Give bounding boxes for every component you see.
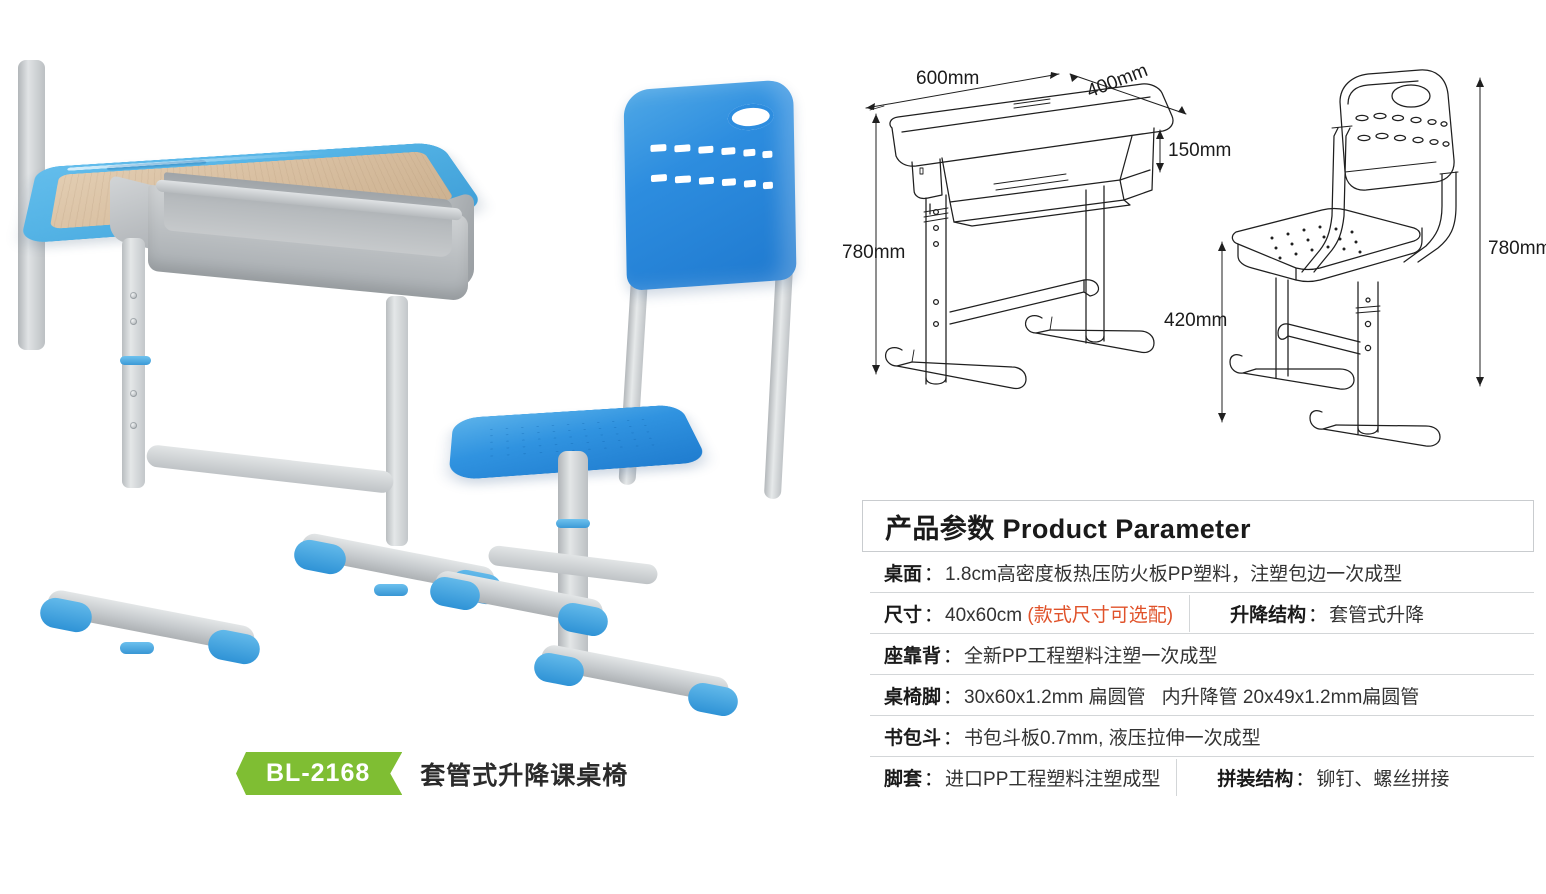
adjust-screw-icon bbox=[130, 422, 137, 429]
adjust-screw-icon bbox=[130, 292, 137, 299]
spec-table: 产品参数 Product Parameter 桌面 ： 1.8cm高密度板热压防… bbox=[862, 500, 1534, 798]
desk-cross-rail bbox=[146, 444, 395, 494]
spec-value: 进口PP工程塑料注塑成型 bbox=[945, 764, 1160, 791]
foot-cap bbox=[686, 680, 741, 718]
spec-value: 套管式升降 bbox=[1329, 600, 1424, 627]
spec-key: 座靠背 bbox=[884, 641, 941, 668]
spec-separator: ： bbox=[941, 641, 964, 668]
spec-row-footcap: 脚套 ： 进口PP工程塑料注塑成型 拼装结构 ： 铆钉、螺丝拼接 bbox=[870, 757, 1534, 798]
desk-leg-adjust-ring bbox=[120, 356, 151, 365]
spec-key: 桌面 bbox=[884, 559, 922, 586]
adjust-screw-icon bbox=[130, 390, 137, 397]
spec-row-tabletop: 桌面 ： 1.8cm高密度板热压防火板PP塑料，注塑包边一次成型 bbox=[870, 552, 1534, 593]
spec-cell: 桌椅脚 ： 30x60x1.2mm 扁圆管内升降管 20x49x1.2mm扁圆管 bbox=[870, 677, 1419, 714]
spec-cell: 升降结构 ： 套管式升降 bbox=[1189, 595, 1424, 632]
spec-value-highlight: (款式尺寸可选配) bbox=[1027, 605, 1173, 626]
spec-key: 尺寸 bbox=[884, 600, 922, 627]
spec-value: 全新PP工程塑料注塑一次成型 bbox=[964, 641, 1217, 668]
foot-ring bbox=[120, 642, 154, 654]
spec-cell: 座靠背 ： 全新PP工程塑料注塑一次成型 bbox=[870, 636, 1217, 673]
chair-line-drawing: 780mm 420mm bbox=[1180, 56, 1540, 466]
spec-value-secondary: 内升降管 20x49x1.2mm扁圆管 bbox=[1162, 687, 1420, 708]
spec-row-legs: 桌椅脚 ： 30x60x1.2mm 扁圆管内升降管 20x49x1.2mm扁圆管 bbox=[870, 675, 1534, 716]
spec-key: 书包斗 bbox=[884, 723, 941, 750]
spec-key: 拼装结构 bbox=[1217, 764, 1293, 791]
chair-backrest bbox=[623, 79, 796, 291]
spec-value: 书包斗板0.7mm, 液压拉伸一次成型 bbox=[964, 723, 1261, 750]
product-photo: BL-2168 套管式升降课桌椅 bbox=[0, 0, 840, 894]
spec-table-header: 产品参数 Product Parameter bbox=[862, 500, 1534, 552]
foot-cap bbox=[206, 627, 263, 666]
spec-row-seatback: 座靠背 ： 全新PP工程塑料注塑一次成型 bbox=[870, 634, 1534, 675]
spec-cell: 尺寸 ： 40x60cm (款式尺寸可选配) bbox=[870, 595, 1173, 632]
spec-separator: ： bbox=[941, 682, 964, 709]
backrest-handle-hole bbox=[728, 102, 774, 131]
spec-key: 桌椅脚 bbox=[884, 682, 941, 709]
spec-key: 脚套 bbox=[884, 764, 922, 791]
spec-row-bookbox: 书包斗 ： 书包斗板0.7mm, 液压拉伸一次成型 bbox=[870, 716, 1534, 757]
adjust-screw-icon bbox=[130, 318, 137, 325]
product-sheet: BL-2168 套管式升降课桌椅 bbox=[0, 0, 1546, 894]
product-badge-row: BL-2168 套管式升降课桌椅 bbox=[236, 752, 628, 795]
desk-book-box bbox=[148, 178, 468, 298]
dim-label-desk-width: 600mm bbox=[916, 68, 979, 90]
spec-header-title: 产品参数 Product Parameter bbox=[885, 507, 1251, 546]
dim-label-chair-height: 780mm bbox=[1488, 238, 1546, 260]
dim-label-desk-height: 780mm bbox=[842, 242, 905, 264]
spec-separator: ： bbox=[1306, 600, 1329, 627]
chair-adjust-ring bbox=[556, 519, 590, 528]
spec-cell: 桌面 ： 1.8cm高密度板热压防火板PP塑料，注塑包边一次成型 bbox=[870, 554, 1402, 591]
technical-drawings: 600mm 400mm 150mm 780mm bbox=[840, 62, 1546, 482]
right-panel: 600mm 400mm 150mm 780mm bbox=[840, 0, 1546, 894]
chair-back-tube bbox=[764, 263, 793, 500]
dim-label-seat-height: 420mm bbox=[1164, 310, 1227, 332]
chair-photo bbox=[430, 85, 830, 745]
spec-separator: ： bbox=[922, 764, 945, 791]
spec-value: 铆钉、螺丝拼接 bbox=[1316, 764, 1449, 791]
spec-cell: 书包斗 ： 书包斗板0.7mm, 液压拉伸一次成型 bbox=[870, 718, 1261, 755]
desk-leg-rear bbox=[386, 296, 408, 546]
spec-separator: ： bbox=[922, 559, 945, 586]
model-badge: BL-2168 bbox=[236, 752, 402, 795]
spec-cell: 拼装结构 ： 铆钉、螺丝拼接 bbox=[1176, 759, 1449, 796]
spec-cell: 脚套 ： 进口PP工程塑料注塑成型 bbox=[870, 759, 1160, 796]
product-title: 套管式升降课桌椅 bbox=[420, 756, 628, 792]
spec-separator: ： bbox=[1293, 764, 1316, 791]
spec-separator: ： bbox=[941, 723, 964, 750]
spec-row-size: 尺寸 ： 40x60cm (款式尺寸可选配) 升降结构 ： 套管式升降 bbox=[870, 593, 1534, 634]
spec-value: 40x60cm (款式尺寸可选配) bbox=[945, 600, 1173, 627]
spec-separator: ： bbox=[922, 600, 945, 627]
spec-value: 1.8cm高密度板热压防火板PP塑料，注塑包边一次成型 bbox=[945, 559, 1402, 586]
spec-key: 升降结构 bbox=[1230, 600, 1306, 627]
spec-value: 30x60x1.2mm 扁圆管内升降管 20x49x1.2mm扁圆管 bbox=[964, 682, 1419, 709]
desk-line-drawing: 600mm 400mm 150mm 780mm bbox=[854, 62, 1204, 462]
foot-ring bbox=[374, 584, 408, 596]
